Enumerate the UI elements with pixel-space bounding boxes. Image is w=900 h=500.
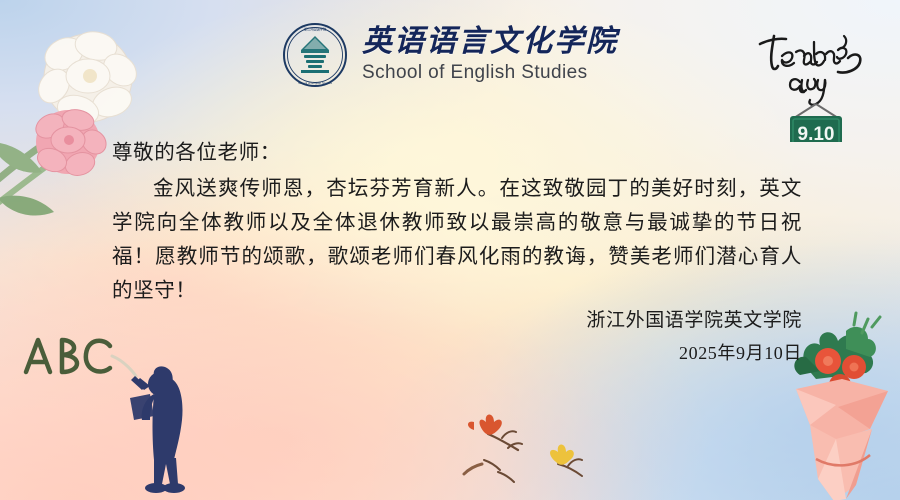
letter-body: 尊敬的各位老师： 金风送爽传师恩，杏坛芬芳育新人。在这致敬园丁的美好时刻，英文学…: [112, 136, 802, 308]
school-seal-emblem-icon: 浙江外国语学院 School of English Studies: [282, 22, 348, 88]
svg-text:浙江外国语学院: 浙江外国语学院: [304, 27, 327, 32]
signature-organization: 浙江外国语学院英文学院: [586, 305, 802, 337]
card-header: 浙江外国语学院 School of English Studies 英语语言文化…: [0, 22, 900, 88]
greeting-card: 9.10 浙江外国语学院 School of English Studies 英…: [0, 0, 900, 500]
signature-date: 2025年9月10日: [586, 337, 802, 369]
letter-paragraph: 金风送爽传师恩，杏坛芬芳育新人。在这致敬园丁的美好时刻，英文学院向全体教师以及全…: [112, 172, 802, 308]
school-title-english: School of English Studies: [362, 62, 587, 84]
school-title-chinese: 英语语言文化学院: [362, 26, 618, 58]
svg-text:School of English Studies: School of English Studies: [298, 81, 333, 85]
letter-signature: 浙江外国语学院英文学院 2025年9月10日: [586, 305, 802, 369]
letter-salutation: 尊敬的各位老师：: [112, 136, 802, 170]
